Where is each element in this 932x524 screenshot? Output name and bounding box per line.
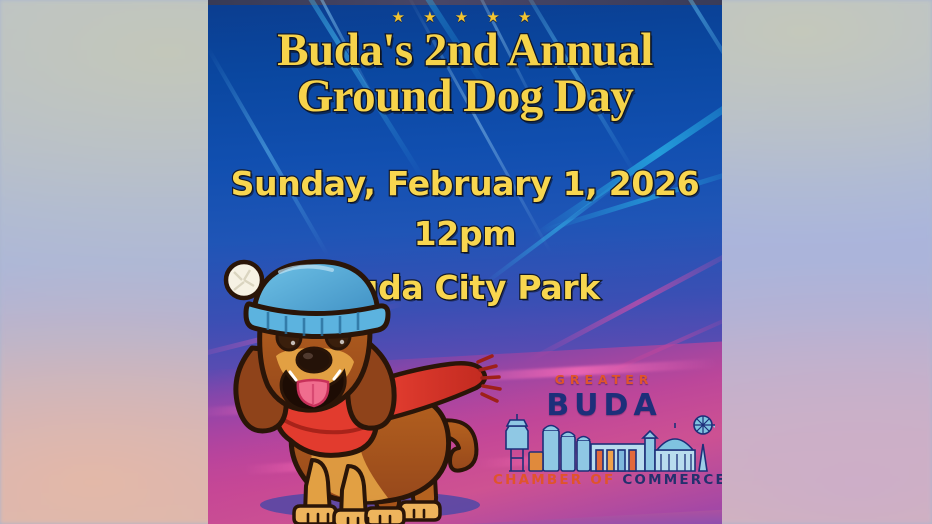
star-rating-decoration: ★ ★ ★ ★ ★	[208, 10, 722, 25]
title-line-1: Buda's 2nd Annual	[208, 28, 722, 74]
logo-commerce-text: COMMERCE	[622, 472, 722, 488]
logo-chamber-of-commerce-text: CHAMBER OF COMMERCE	[493, 472, 715, 488]
event-poster: ★ ★ ★ ★ ★ Buda's 2nd Annual Ground Dog D…	[208, 0, 722, 524]
logo-chamber-of-text: CHAMBER OF	[493, 472, 615, 488]
page-title: Buda's 2nd Annual Ground Dog Day	[208, 28, 722, 119]
title-line-2: Ground Dog Day	[208, 74, 722, 120]
dachshund-dog-illustration	[220, 252, 510, 524]
logo-skyline-illustration	[493, 408, 715, 476]
greater-buda-chamber-logo: GREATER BUDA	[493, 372, 715, 500]
screenshot-stage: ★ ★ ★ ★ ★ Buda's 2nd Annual Ground Dog D…	[0, 0, 932, 524]
event-time: 12pm	[208, 214, 722, 253]
event-date: Sunday, February 1, 2026	[208, 164, 722, 203]
logo-greater-text: GREATER	[493, 372, 715, 387]
